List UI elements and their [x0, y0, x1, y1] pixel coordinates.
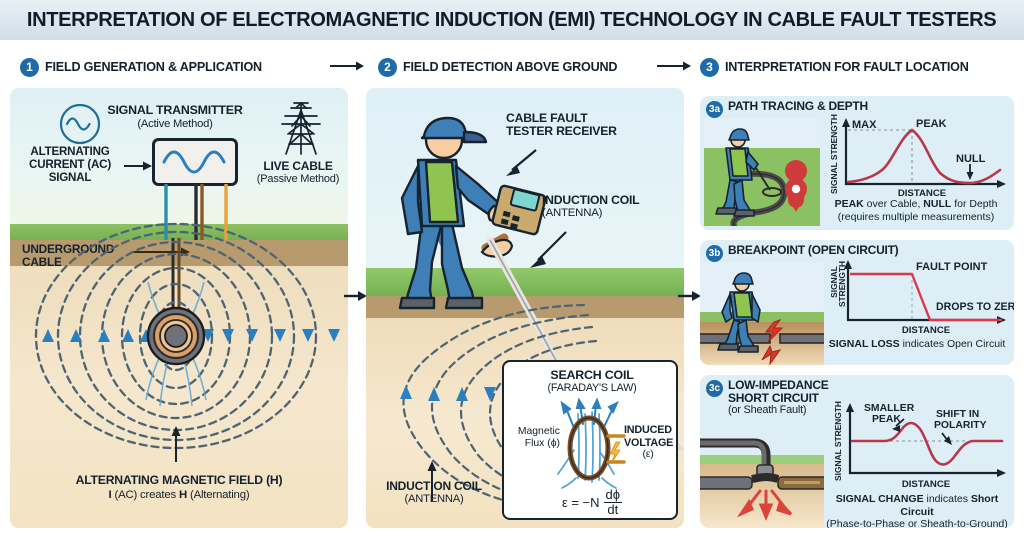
panel-3c-badge: 3c [706, 380, 723, 397]
induced-voltage-label: INDUCED VOLTAGE (ε) [624, 424, 680, 461]
map-pin-icon [785, 160, 807, 212]
svg-text:MAX: MAX [852, 119, 877, 131]
formula-fraction: dϕ dt [604, 488, 623, 516]
panel-field-detection: CABLE FAULT TESTER RECEIVER INDUCTION CO… [366, 88, 684, 528]
svg-text:SIGNAL STRENGTH: SIGNAL STRENGTH [833, 401, 843, 481]
panel-3b-caption: SIGNAL LOSS indicates Open Circuit [822, 338, 1012, 351]
induction-coil-label: INDUCTION COIL (ANTENNA) [542, 194, 639, 220]
panel-arrow-2-icon [678, 289, 702, 303]
chart-3b: FAULT POINT DROPS TO ZERO DISTANCE SIGNA… [826, 258, 1012, 338]
panel-3a-badge: 3a [706, 101, 723, 118]
step-1-number: 1 [20, 58, 39, 77]
svg-text:FAULT POINT: FAULT POINT [916, 261, 988, 273]
panel-short-circuit: 3c LOW-IMPEDANCE SHORT CIRCUIT (or Sheat… [700, 375, 1014, 528]
panel-field-generation: ALTERNATING CURRENT (AC) SIGNAL SIGNAL T… [10, 88, 348, 528]
panel-3b-badge: 3b [706, 245, 723, 262]
induction-coil-bottom-label: INDUCTION COIL (ANTENNA) [374, 480, 494, 506]
step-arrow-2-icon [657, 60, 693, 72]
field-subcaption: I (AC) creates H (Alternating) [20, 489, 338, 502]
step-1-label: FIELD GENERATION & APPLICATION [45, 60, 262, 74]
svg-text:DISTANCE: DISTANCE [902, 325, 951, 336]
page-title: INTERPRETATION OF ELECTROMAGNETIC INDUCT… [27, 8, 996, 32]
step-arrow-1-icon [330, 60, 366, 72]
search-coil-inset-card: SEARCH COIL (FARADAY'S LAW) [502, 360, 678, 520]
panel-breakpoint: 3b BREAKPOINT (OPEN CIRCUIT) [700, 240, 1014, 365]
panel-path-tracing: 3a PATH TRACING & DEPTH [700, 96, 1014, 230]
step-3-label: INTERPRETATION FOR FAULT LOCATION [725, 60, 969, 74]
magnetic-field-diagram [10, 238, 348, 473]
breakpoint-svg [700, 262, 824, 365]
short-circuit-illustration [700, 429, 824, 528]
step-2-number: 2 [378, 58, 397, 77]
faraday-formula: ε = −N dϕ dt [504, 488, 680, 516]
step-1[interactable]: 1 FIELD GENERATION & APPLICATION [20, 52, 262, 82]
cable-cross-section-icon [148, 308, 204, 364]
svg-text:SMALLER: SMALLER [864, 403, 915, 414]
chart-3a: MAX PEAK NULL DISTANCE SIGNAL STRENGTH [824, 116, 1012, 198]
panel-arrow-1-icon [344, 289, 368, 303]
path-tracing-illustration [704, 118, 820, 226]
ac-signal-label: ALTERNATING CURRENT (AC) SIGNAL [16, 146, 124, 184]
signal-transmitter-label: SIGNAL TRANSMITTER (Active Method) [80, 104, 270, 130]
breakpoint-illustration [700, 262, 824, 365]
step-bar: 1 FIELD GENERATION & APPLICATION 2 FIELD… [0, 52, 1024, 82]
svg-text:DISTANCE: DISTANCE [902, 479, 951, 490]
panel-3c-title: LOW-IMPEDANCE SHORT CIRCUIT (or Sheath F… [728, 379, 829, 417]
step-3-number: 3 [700, 58, 719, 77]
svg-text:SIGNAL STRENGTH: SIGNAL STRENGTH [829, 114, 839, 194]
panel-3a-caption: PEAK over Cable, NULL for Depth (require… [820, 198, 1012, 223]
svg-text:PEAK: PEAK [916, 118, 947, 130]
panel-3b-heading: 3b BREAKPOINT (OPEN CIRCUIT) [706, 244, 898, 262]
path-tracing-svg [704, 118, 820, 226]
step-3[interactable]: 3 INTERPRETATION FOR FAULT LOCATION [700, 52, 969, 82]
panel-3a-title: PATH TRACING & DEPTH [728, 100, 868, 113]
panel-3c-caption: SIGNAL CHANGE indicates Short Circuit (P… [822, 493, 1012, 528]
power-pylon-icon [272, 100, 330, 158]
alternating-magnetic-field-label: ALTERNATING MAGNETIC FIELD (H) I (AC) cr… [20, 474, 338, 502]
svg-text:STRENGTH: STRENGTH [837, 261, 847, 307]
header-band: INTERPRETATION OF ELECTROMAGNETIC INDUCT… [0, 0, 1024, 40]
panel-3c-heading: 3c LOW-IMPEDANCE SHORT CIRCUIT (or Sheat… [706, 379, 829, 417]
svg-text:DROPS TO ZERO: DROPS TO ZERO [936, 301, 1014, 313]
svg-text:NULL: NULL [956, 153, 986, 165]
panel-3a-heading: 3a PATH TRACING & DEPTH [706, 100, 868, 118]
ac-to-transmitter-arrow-icon [124, 160, 154, 172]
coil-pointer-arrow-icon [526, 228, 570, 272]
transmitter-box-icon [152, 138, 238, 186]
magnetic-flux-label: Magnetic Flux (ϕ) [508, 426, 560, 451]
chart-3c: SMALLER PEAK SHIFT IN POLARITY DISTANCE … [826, 397, 1012, 493]
step-2-label: FIELD DETECTION ABOVE GROUND [403, 60, 617, 74]
receiver-pointer-arrow-icon [502, 146, 540, 178]
live-cable-label: LIVE CABLE (Passive Method) [246, 160, 348, 185]
cable-fault-tester-receiver-label: CABLE FAULT TESTER RECEIVER [506, 112, 617, 139]
svg-text:PEAK: PEAK [872, 414, 901, 425]
search-coil-title: SEARCH COIL (FARADAY'S LAW) [504, 369, 680, 395]
short-circuit-svg [700, 429, 824, 528]
svg-text:POLARITY: POLARITY [934, 420, 987, 431]
step-2[interactable]: 2 FIELD DETECTION ABOVE GROUND [378, 52, 617, 82]
svg-text:SHIFT IN: SHIFT IN [936, 409, 979, 420]
panel-3b-title: BREAKPOINT (OPEN CIRCUIT) [728, 244, 898, 257]
